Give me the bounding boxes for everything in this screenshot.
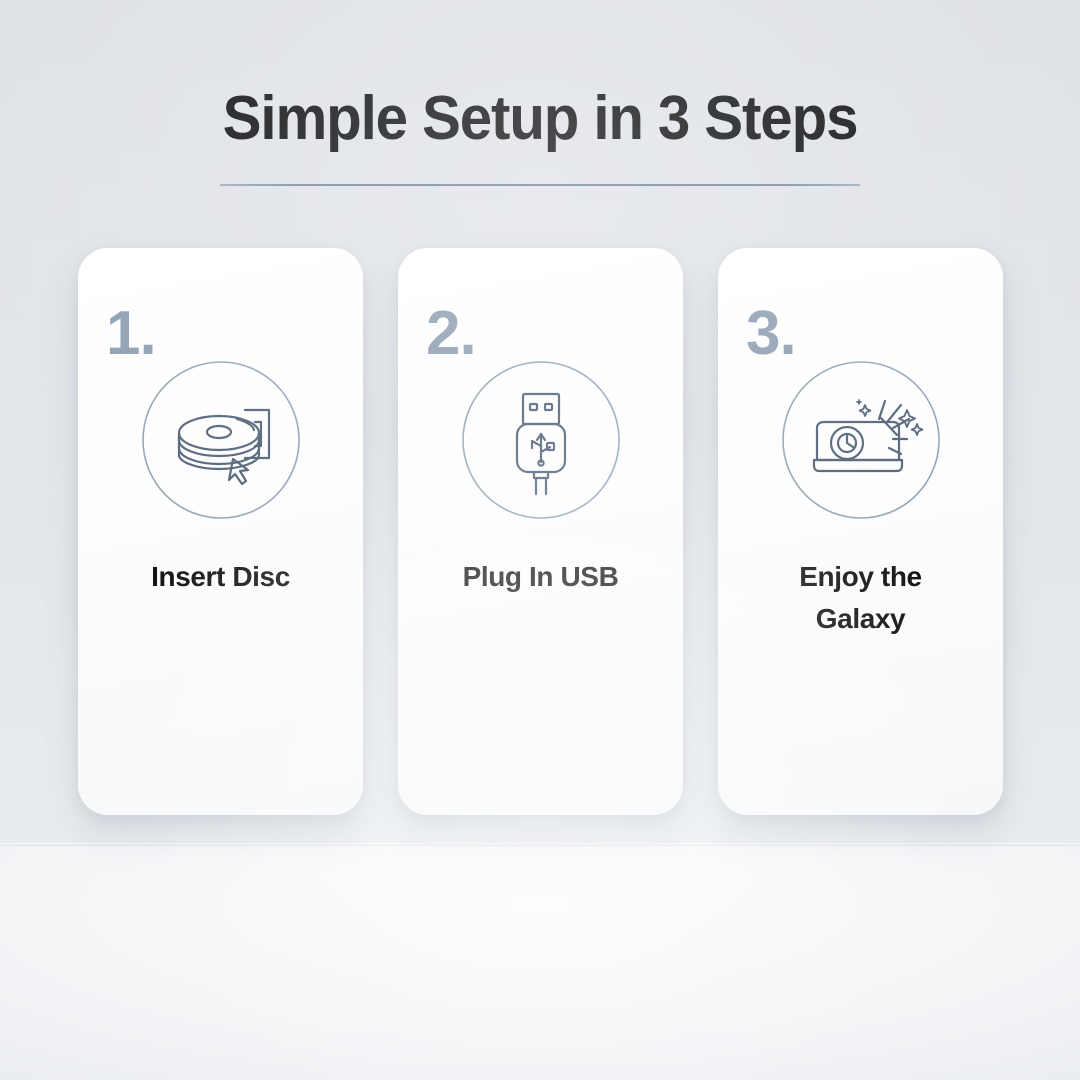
step-card-2[interactable]: 2.	[398, 248, 683, 815]
projector-sparkle-icon	[781, 360, 941, 520]
shelf-edge	[0, 843, 1080, 846]
disc-insert-icon	[141, 360, 301, 520]
step-number-2: 2.	[426, 303, 476, 365]
usb-connector-icon	[461, 360, 621, 520]
step-label-3-line-2: Galaxy	[816, 603, 905, 634]
step-label-3: Enjoy the Galaxy	[732, 556, 989, 640]
steps-row: 1.	[78, 248, 1003, 815]
setup-steps-graphic: Simple Setup in 3 Steps 1.	[0, 0, 1080, 1080]
page-title: Simple Setup in 3 Steps	[32, 84, 1047, 154]
step-card-3[interactable]: 3.	[718, 248, 1003, 815]
title-divider	[220, 184, 860, 186]
step-label-2: Plug In USB	[412, 556, 669, 598]
step-number-1: 1.	[106, 303, 156, 365]
step-label-1: Insert Disc	[92, 556, 349, 598]
shelf-surface	[0, 845, 1080, 1080]
step-card-1[interactable]: 1.	[78, 248, 363, 815]
header: Simple Setup in 3 Steps	[0, 84, 1080, 186]
step-label-3-line-1: Enjoy the	[799, 561, 921, 592]
step-number-3: 3.	[746, 303, 796, 365]
